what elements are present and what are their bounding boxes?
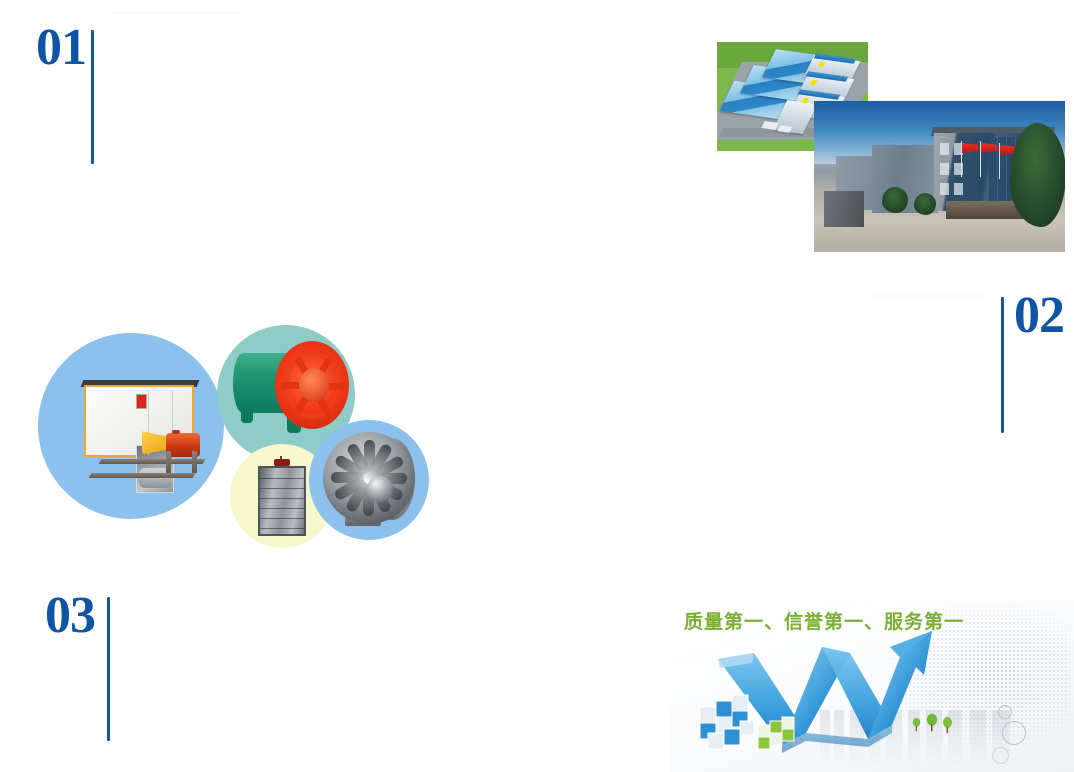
damper-louver (260, 518, 304, 519)
cabinet-base-rail (89, 473, 196, 478)
brochure-page: 01 02 03 (0, 0, 1074, 772)
product-photo-cluster (30, 325, 430, 550)
bubble-decoration (992, 747, 1009, 764)
section-marker-02: 02 (1014, 292, 1064, 340)
product-circle-turbo-fan (309, 420, 429, 540)
photo-tree (1010, 123, 1065, 227)
bubble-decoration (1002, 721, 1026, 745)
section-marker-01: 01 (36, 24, 86, 72)
green-cube-cluster-icon (756, 711, 802, 757)
axial-fan-foot (241, 407, 253, 423)
photo-shrub (914, 193, 936, 215)
photo-window (940, 183, 949, 195)
photo-gate-kiosk (824, 191, 864, 227)
photo-flagpole (961, 141, 962, 177)
damper-handle (274, 459, 290, 466)
section-marker-03: 03 (45, 592, 95, 640)
cabinet-base-leg (192, 451, 197, 473)
damper-louver (260, 478, 304, 479)
section-rule-03 (107, 597, 110, 741)
bubble-decoration (998, 705, 1012, 719)
office-building-photo (814, 101, 1065, 252)
hairline-decoration-top (112, 12, 242, 14)
hairline-decoration-mid (870, 295, 990, 297)
damper-louver (260, 488, 304, 489)
cabinet-base-leg (166, 451, 171, 473)
tree-icon (942, 716, 953, 734)
section-number-01: 01 (36, 24, 86, 72)
damper-louver (260, 528, 304, 529)
section-number-03: 03 (45, 592, 95, 640)
growth-arrow-banner: 质量第一、信誉第一、服务第一 (670, 599, 1074, 772)
turbo-fan-impeller (323, 432, 415, 524)
photo-shrub (882, 187, 908, 213)
tree-icon (912, 717, 921, 732)
section-number-02: 02 (1014, 292, 1064, 340)
photo-window (940, 163, 949, 175)
section-rule-02 (1001, 297, 1004, 433)
photo-flagpole (980, 141, 981, 177)
cabinet-control-box (136, 394, 147, 409)
axial-fan-hub (299, 368, 329, 402)
banner-slogan-text: 质量第一、信誉第一、服务第一 (684, 607, 964, 634)
photo-window (954, 183, 963, 195)
damper-louver (260, 508, 304, 509)
cabinet-base-rail (99, 459, 206, 464)
damper-louver (260, 498, 304, 499)
tree-icon (926, 713, 938, 732)
section-rule-01 (91, 30, 94, 164)
photo-flagpole (999, 143, 1000, 179)
photo-window (940, 143, 949, 155)
turbo-fan-hub (367, 476, 393, 502)
damper-housing (258, 466, 306, 536)
product-circle-cabinet-fan (38, 333, 224, 519)
